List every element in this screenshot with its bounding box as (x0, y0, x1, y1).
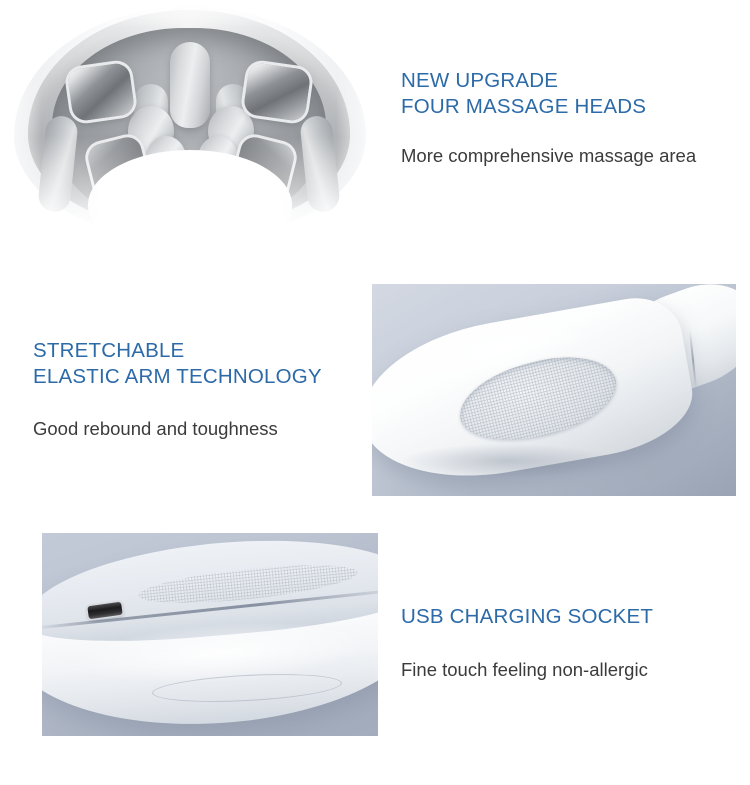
feature-text-elastic-arm: STRETCHABLE ELASTIC ARM TECHNOLOGY Good … (33, 338, 322, 441)
massage-nub-center (170, 42, 210, 128)
feature-description: Fine touch feeling non-allergic (401, 658, 653, 682)
feature-image-four-massage-heads (0, 0, 378, 228)
feature-description: More comprehensive massage area (401, 144, 696, 168)
massage-head-top-right (243, 62, 312, 122)
feature-heading-line-1: NEW UPGRADE (401, 68, 696, 94)
feature-text-four-massage-heads: NEW UPGRADE FOUR MASSAGE HEADS More comp… (401, 68, 696, 168)
product-feature-page: NEW UPGRADE FOUR MASSAGE HEADS More comp… (0, 0, 750, 785)
feature-heading-line-2: ELASTIC ARM TECHNOLOGY (33, 364, 322, 390)
feature-heading-line-1: STRETCHABLE (33, 338, 322, 364)
feature-text-usb-charging-socket: USB CHARGING SOCKET Fine touch feeling n… (401, 604, 653, 682)
feature-image-usb-charging-socket (42, 533, 378, 736)
arm-drop-shadow (402, 444, 612, 478)
massage-head-top-left (67, 62, 136, 122)
feature-description: Good rebound and toughness (33, 417, 322, 441)
feature-heading-line-1: USB CHARGING SOCKET (401, 604, 653, 630)
feature-heading-line-2: FOUR MASSAGE HEADS (401, 94, 696, 120)
feature-image-elastic-arm (372, 284, 736, 496)
